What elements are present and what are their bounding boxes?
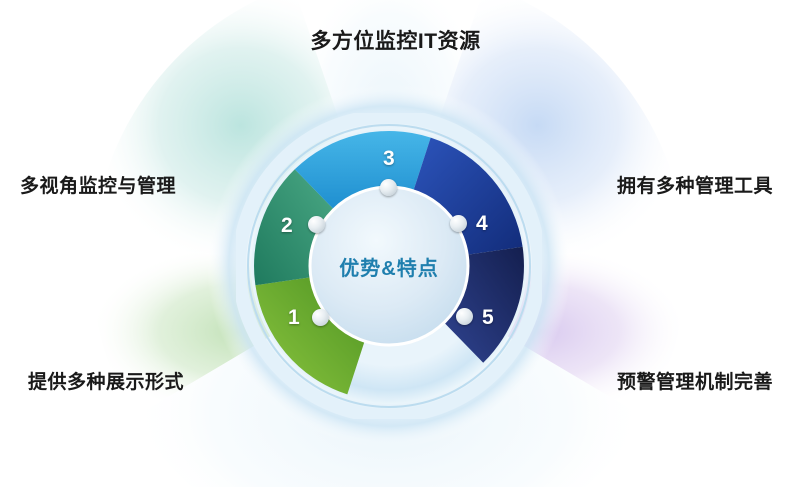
- donut-svg: [236, 113, 542, 419]
- label-right-lower: 预警管理机制完善: [617, 367, 773, 394]
- diagram-canvas: 优势&特点 1 2 3 4 5 多方位监控IT资源 多视角监控与管理 提供多种展…: [0, 0, 791, 487]
- label-top: 多方位监控IT资源: [0, 25, 791, 55]
- label-left-upper: 多视角监控与管理: [20, 171, 176, 198]
- donut-chart: 优势&特点 1 2 3 4 5: [236, 113, 542, 419]
- label-right-upper: 拥有多种管理工具: [617, 171, 773, 198]
- label-left-lower: 提供多种展示形式: [28, 367, 184, 394]
